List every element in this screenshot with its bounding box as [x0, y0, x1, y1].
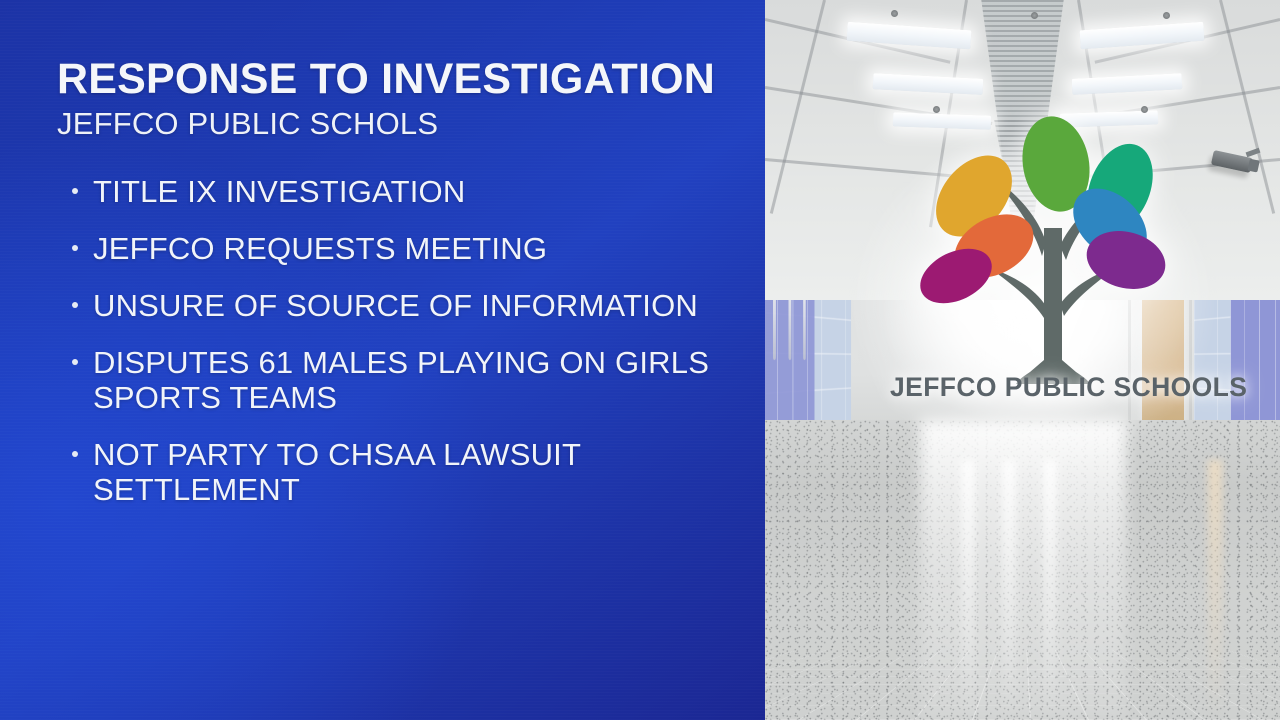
floor-light-streak [961, 460, 975, 720]
list-item: DISPUTES 61 MALES PLAYING ON GIRLS SPORT… [70, 345, 750, 415]
sprinkler-head-icon [891, 10, 898, 17]
floor-door-reflection [1208, 460, 1222, 720]
ceiling-light [1079, 22, 1204, 50]
ceiling-rail [1219, 0, 1275, 214]
terrazzo-floor [765, 420, 1280, 720]
floor-reflection [920, 420, 1126, 720]
ceiling-rail [770, 0, 826, 214]
sprinkler-head-icon [1163, 12, 1170, 19]
news-graphic-stage: JEFFCO PUBLIC SCHOOLS RESPONSE TO INVEST… [0, 0, 1280, 720]
list-item: NOT PARTY TO CHSAA LAWSUIT SETTLEMENT [70, 437, 750, 507]
logo-wordmark: JEFFCO PUBLIC SCHOOLS [890, 372, 1216, 403]
bullet-list: TITLE IX INVESTIGATION JEFFCO REQUESTS M… [70, 174, 750, 529]
ceiling-light [873, 73, 984, 95]
page-title: RESPONSE TO INVESTIGATION [57, 57, 747, 102]
floor-light-streak [1002, 460, 1016, 720]
list-item: UNSURE OF SOURCE OF INFORMATION [70, 288, 750, 323]
list-item: TITLE IX INVESTIGATION [70, 174, 750, 209]
page-subtitle: JEFFCO PUBLIC SCHOLS [57, 108, 747, 141]
list-item: JEFFCO REQUESTS MEETING [70, 231, 750, 266]
floor-light-streak [1043, 460, 1057, 720]
sprinkler-head-icon [1031, 12, 1038, 19]
jeffco-tree-logo [898, 110, 1208, 410]
ceiling-light [846, 22, 971, 50]
